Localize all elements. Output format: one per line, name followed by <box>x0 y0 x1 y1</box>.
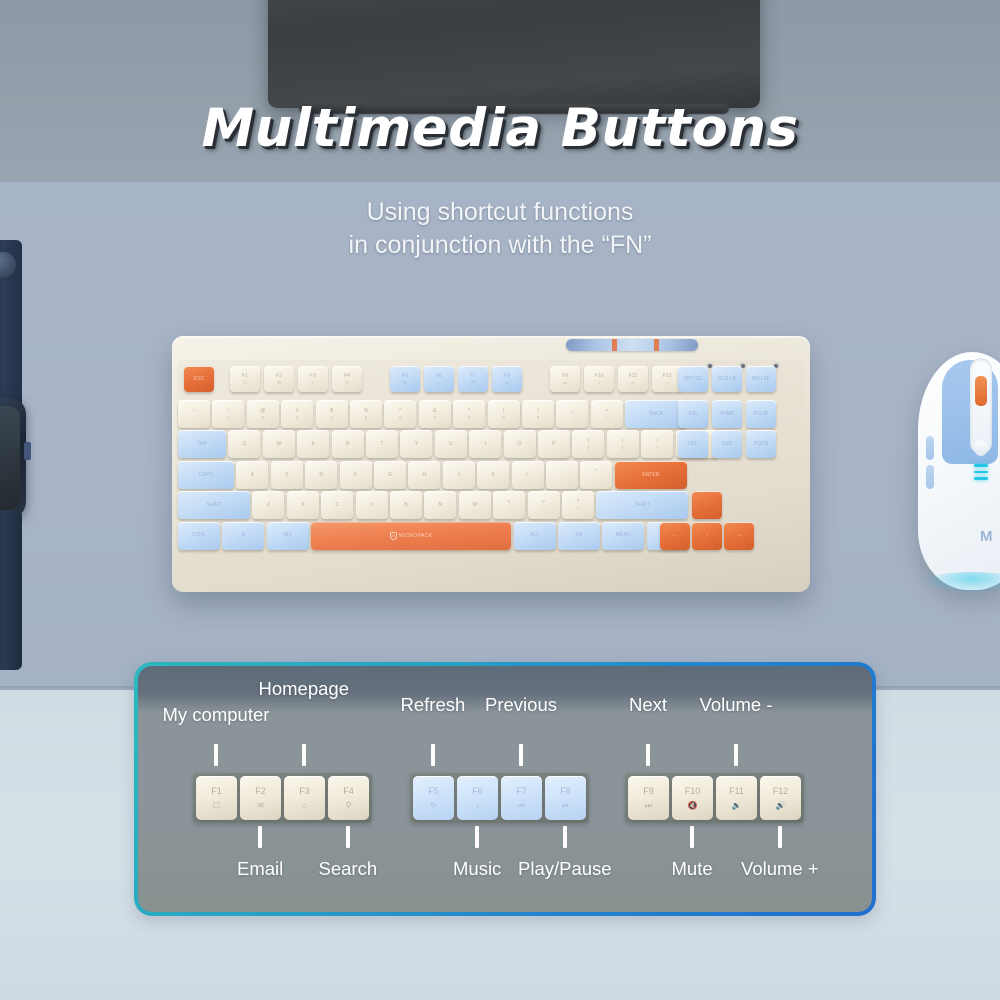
mouse-photo: M <box>918 352 1000 590</box>
keycap-f1: F1☐ <box>230 366 260 392</box>
keycap-pau-se: PAU SE <box>746 366 776 392</box>
page-title: Multimedia Buttons <box>0 98 1000 159</box>
keycap--: (9 <box>488 400 520 428</box>
keycap-enter: ENTER <box>615 461 687 489</box>
keycap--: _- <box>556 400 588 428</box>
callout-key-group-2: F5↻F6♪F7⏮F8⏯ <box>410 773 589 823</box>
callout-keycap-f1[interactable]: F1☐ <box>196 776 237 820</box>
keycap--: :; <box>546 461 578 489</box>
monitor-rear <box>268 0 760 108</box>
callout-keycap-label: F11 <box>729 786 744 796</box>
keycap--: {[ <box>572 430 604 458</box>
keycap--: ⊞ <box>222 522 264 550</box>
keycap--: @2 <box>247 400 279 428</box>
keycap-scr-lk: SCR LK <box>712 366 742 392</box>
callout-leader-tick <box>778 826 782 848</box>
keycap-g: G <box>374 461 406 489</box>
keycap-ins: INS <box>678 400 708 428</box>
keycap--: >. <box>528 491 560 519</box>
keycap-j: J <box>443 461 475 489</box>
callout-keycap-f11[interactable]: F11🔉 <box>716 776 757 820</box>
callout-keycap-f10[interactable]: F10🔇 <box>672 776 713 820</box>
keycap-f4: F4⚲ <box>332 366 362 392</box>
keycap-c: C <box>321 491 353 519</box>
keycap-r: R <box>332 430 364 458</box>
keycap-f5: F5↻ <box>390 366 420 392</box>
callout-keycap-function-icon: 🔊 <box>776 802 786 810</box>
callout-top-label: My computer <box>163 704 270 726</box>
keyboard-brand-label: MICROPACK <box>399 533 433 539</box>
callout-leader-tick <box>431 744 435 766</box>
callout-keycap-f12[interactable]: F12🔊 <box>760 776 801 820</box>
keycap--: !1 <box>212 400 244 428</box>
keycap-i: I <box>469 430 501 458</box>
keycap-a: A <box>236 461 268 489</box>
watch-face <box>0 406 20 510</box>
keycap-prt-sc: PRT SC <box>678 366 708 392</box>
callout-bottom-label: Music <box>453 858 501 880</box>
keycap--: ~` <box>178 400 210 428</box>
callout-bottom-label: Email <box>237 858 283 880</box>
keycap-f11: F11♬ <box>618 366 648 392</box>
keycap-z: Z <box>252 491 284 519</box>
callout-keycap-label: F8 <box>560 786 571 796</box>
subtitle-line-1: Using shortcut functions <box>367 198 634 226</box>
callout-keycap-f9[interactable]: F9⏭ <box>628 776 669 820</box>
keycap--: %5 <box>350 400 382 428</box>
callout-keycap-f6[interactable]: F6♪ <box>457 776 498 820</box>
keycap-del: DEL <box>678 430 708 458</box>
keycap--: → <box>724 522 754 550</box>
keycap--: ?/ <box>562 491 594 519</box>
keycap-x: X <box>287 491 319 519</box>
keycap-pgup: PGUP <box>746 400 776 428</box>
keycap-m: M <box>459 491 491 519</box>
callout-keycap-function-icon: ⏭ <box>645 802 652 810</box>
keycap-caps: CAPS <box>178 461 234 489</box>
callout-keycap-label: F9 <box>643 786 654 796</box>
keycap-tab: TAB <box>178 430 226 458</box>
callout-bottom-label: Volume + <box>741 858 819 880</box>
keycap-f6: F6♪ <box>424 366 454 392</box>
callout-keycap-function-icon: 🔇 <box>688 802 698 810</box>
keycap-pgdn: PGDN <box>746 430 776 458</box>
keycap-esc: ESC <box>184 366 214 392</box>
keycap-f10: F10♫ <box>584 366 614 392</box>
mouse-dpi-button <box>975 440 987 456</box>
callout-leader-tick <box>346 826 350 848</box>
callout-key-group-1: F1☐F2✉F3⌂F4⚲ <box>193 773 372 823</box>
keycap-shift: SHIFT <box>596 491 688 519</box>
callout-top-label: Refresh <box>401 694 466 716</box>
keycap-h: H <box>408 461 440 489</box>
callout-keycap-f5[interactable]: F5↻ <box>413 776 454 820</box>
callout-bottom-label: Play/Pause <box>518 858 612 880</box>
callout-leader-tick <box>690 826 694 848</box>
callout-keycap-f7[interactable]: F7⏮ <box>501 776 542 820</box>
callout-leader-tick <box>214 744 218 766</box>
callout-top-label: Next <box>629 694 667 716</box>
keycap--: <, <box>493 491 525 519</box>
keycap-w: W <box>263 430 295 458</box>
callout-keycap-function-icon: ⚲ <box>346 802 352 810</box>
callout-inner: F1☐F2✉F3⌂F4⚲My computerEmailHomepageSear… <box>138 666 872 912</box>
keycap-f2: F2✉ <box>264 366 294 392</box>
keycap-b: B <box>390 491 422 519</box>
callout-bottom-label: Search <box>319 858 378 880</box>
callout-keycap-label: F4 <box>343 786 354 796</box>
keycap--: }] <box>607 430 639 458</box>
keycap--: ↓ <box>692 522 722 550</box>
keycap-f: F <box>340 461 372 489</box>
callout-keycap-f8[interactable]: F8⏯ <box>545 776 586 820</box>
callout-leader-tick <box>646 744 650 766</box>
watch-strap-lower <box>0 510 22 670</box>
callout-keycap-function-icon: 🔉 <box>732 802 742 810</box>
keycap--: ← <box>660 522 690 550</box>
keycap-f7: F7⏮ <box>458 366 488 392</box>
mouse-side-buttons <box>926 436 934 494</box>
keycap-p: P <box>538 430 570 458</box>
callout-keycap-label: F10 <box>685 786 701 796</box>
keycap-l: L <box>512 461 544 489</box>
callout-key-group-3: F9⏭F10🔇F11🔉F12🔊 <box>625 773 804 823</box>
callout-keycap-function-icon: ♪ <box>476 802 480 810</box>
callout-keycap-f4[interactable]: F4⚲ <box>328 776 369 820</box>
callout-keycap-f2[interactable]: F2✉ <box>240 776 281 820</box>
callout-keycap-function-icon: ↻ <box>430 802 437 810</box>
callout-bottom-label: Mute <box>672 858 713 880</box>
callout-keycap-function-icon: ⌂ <box>302 802 307 810</box>
callout-leader-tick <box>258 826 262 848</box>
keycap-alt: ALT <box>514 522 556 550</box>
callout-leader-tick <box>563 826 567 848</box>
keycap-e: E <box>297 430 329 458</box>
page-subtitle: Using shortcut functions in conjunction … <box>0 196 1000 262</box>
mouse-scroll-wheel-icon <box>975 376 987 406</box>
keycap-f8: F8⏯ <box>492 366 522 392</box>
keycap-f9: F9⏭ <box>550 366 580 392</box>
keycap--: ^6 <box>384 400 416 428</box>
callout-keycap-function-icon: ⏮ <box>518 802 525 810</box>
keycap--: $4 <box>316 400 348 428</box>
callout-keycap-function-icon: ✉ <box>257 802 264 810</box>
keycap-spacebar: MMICROPACK <box>311 522 511 550</box>
keycap-home: HOME <box>712 400 742 428</box>
callout-keycap-label: F2 <box>255 786 266 796</box>
watch-body <box>0 398 26 518</box>
keycap--: *8 <box>453 400 485 428</box>
keycap-t: T <box>366 430 398 458</box>
callout-leader-tick <box>302 744 306 766</box>
keycap-menu: MENU <box>602 522 644 550</box>
callout-leader-tick <box>734 744 738 766</box>
keyboard-decor-strip <box>566 339 698 351</box>
callout-keycap-label: F5 <box>428 786 439 796</box>
mouse-dpi-indicators <box>974 464 988 484</box>
shield-logo-icon: M <box>390 532 397 540</box>
keycap-d: D <box>305 461 337 489</box>
callout-keycap-f3[interactable]: F3⌂ <box>284 776 325 820</box>
callout-keycap-label: F6 <box>472 786 483 796</box>
callout-leader-tick <box>519 744 523 766</box>
mouse-brand-logo: M <box>980 528 993 545</box>
callout-leader-tick <box>475 826 479 848</box>
keycap-y: Y <box>400 430 432 458</box>
keycap-alt: ALT <box>267 522 309 550</box>
keycap-k: K <box>477 461 509 489</box>
callout-top-label: Previous <box>485 694 557 716</box>
keycap--: )0 <box>522 400 554 428</box>
keycap--: |\ <box>641 430 673 458</box>
keycap--: += <box>591 400 623 428</box>
keycap-f3: F3⌂ <box>298 366 328 392</box>
keycap--: #3 <box>281 400 313 428</box>
keycap--: ↑ <box>692 491 722 519</box>
callout-top-label: Volume - <box>700 694 773 716</box>
keycap-v: V <box>356 491 388 519</box>
callout-keycap-label: F12 <box>773 786 789 796</box>
callout-keycap-label: F3 <box>299 786 310 796</box>
watch-crown-icon <box>24 442 31 460</box>
keycap-shift: SHIFT <box>178 491 250 519</box>
callout-keycap-function-icon: ☐ <box>213 802 220 810</box>
keycap-end: END <box>712 430 742 458</box>
keycap-n: N <box>424 491 456 519</box>
subtitle-line-2: in conjunction with the “FN” <box>0 229 1000 262</box>
keycap-q: Q <box>228 430 260 458</box>
callout-top-label: Homepage <box>259 678 350 700</box>
callout-keycap-function-icon: ⏯ <box>562 802 568 810</box>
keycap--: "' <box>580 461 612 489</box>
keycap--: &7 <box>419 400 451 428</box>
keycap-fn: FN <box>558 522 600 550</box>
keycap-u: U <box>435 430 467 458</box>
multimedia-callout-panel: F1☐F2✉F3⌂F4⚲My computerEmailHomepageSear… <box>134 662 876 916</box>
keycap-o: O <box>504 430 536 458</box>
keycap-s: S <box>271 461 303 489</box>
callout-keycap-label: F7 <box>516 786 527 796</box>
callout-keycap-label: F1 <box>211 786 222 796</box>
keycap-ctrl: CTRL <box>178 522 220 550</box>
